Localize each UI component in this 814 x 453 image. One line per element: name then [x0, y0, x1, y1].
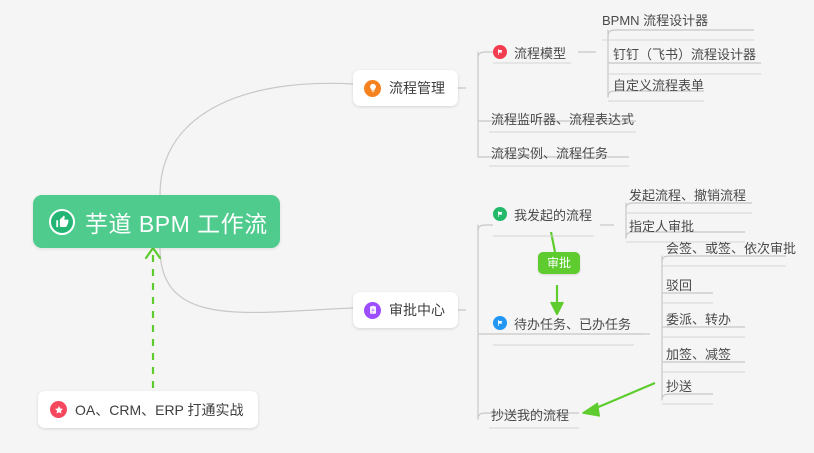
leaf-listener-expression[interactable]: 流程监听器、流程表达式 — [491, 110, 634, 130]
clipboard-icon — [364, 302, 381, 319]
node-shenpi-zhongxin[interactable]: 审批中心 — [353, 292, 458, 328]
node-oa-crm-erp-label: OA、CRM、ERP 打通实战 — [75, 400, 244, 420]
badge-shenpi[interactable]: 审批 — [538, 252, 580, 274]
leaf-cc-to-me[interactable]: 抄送我的流程 — [491, 406, 569, 426]
node-liucheng-guanli-label: 流程管理 — [389, 78, 445, 98]
root-node[interactable]: 芋道 BPM 工作流 — [33, 195, 280, 248]
leaf-start-cancel[interactable]: 发起流程、撤销流程 — [629, 186, 746, 206]
leaf-cc[interactable]: 抄送 — [666, 377, 692, 397]
green-arrow-cc — [583, 383, 655, 416]
node-todo-done[interactable]: 待办任务、已办任务 — [493, 312, 631, 334]
node-my-started-label: 我发起的流程 — [514, 205, 592, 224]
lightbulb-icon — [364, 80, 381, 97]
leaf-custom-form[interactable]: 自定义流程表单 — [613, 76, 704, 96]
leaf-reject[interactable]: 驳回 — [666, 276, 692, 296]
leaf-add-remove-sign[interactable]: 加签、减签 — [666, 345, 731, 365]
leaf-assignee-approve[interactable]: 指定人审批 — [629, 217, 694, 237]
node-liucheng-moxing-label: 流程模型 — [514, 43, 566, 62]
star-icon — [50, 401, 67, 418]
leaf-delegate-transfer[interactable]: 委派、转办 — [666, 310, 731, 330]
node-liucheng-guanli[interactable]: 流程管理 — [353, 70, 458, 106]
leaf-bpmn-designer[interactable]: BPMN 流程设计器 — [602, 11, 708, 31]
node-shenpi-zhongxin-label: 审批中心 — [389, 300, 445, 320]
node-todo-done-label: 待办任务、已办任务 — [514, 314, 631, 333]
node-my-started[interactable]: 我发起的流程 — [493, 203, 592, 225]
leaf-dingding-feishu-designer[interactable]: 钉钉（飞书）流程设计器 — [613, 45, 756, 65]
dashed-green-arrow — [146, 248, 160, 388]
flag-icon — [493, 45, 507, 59]
leaf-instance-task[interactable]: 流程实例、流程任务 — [491, 144, 608, 164]
node-liucheng-moxing[interactable]: 流程模型 — [493, 41, 566, 63]
thumbs-up-icon — [49, 209, 75, 235]
node-oa-crm-erp[interactable]: OA、CRM、ERP 打通实战 — [38, 391, 258, 428]
flag-icon — [493, 316, 507, 330]
mindmap-canvas: 芋道 BPM 工作流 流程管理 审批中心 流程模型 BPMN 流程设计器 钉钉（… — [0, 0, 814, 453]
leaf-countersign[interactable]: 会签、或签、依次审批 — [666, 239, 796, 259]
flag-icon — [493, 207, 507, 221]
root-label: 芋道 BPM 工作流 — [85, 205, 268, 239]
